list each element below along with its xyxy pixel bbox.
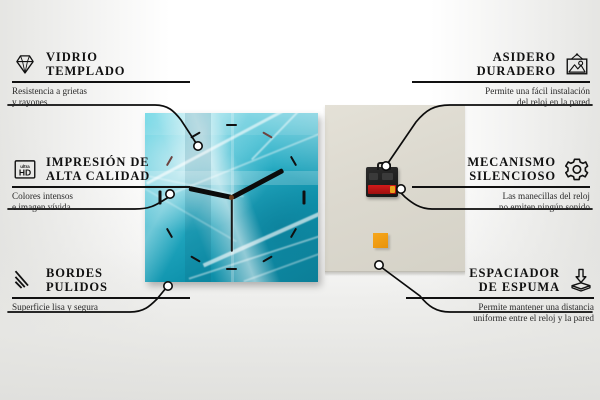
feature-mecanismo-silencioso[interactable]: MECANISMO SILENCIOSO Las manecillas del … [400,155,590,213]
feature-rule [12,297,190,299]
feature-rule [12,186,190,188]
feature-header: BORDES PULIDOS [12,266,202,294]
gear-icon [564,156,590,182]
clock-hand-cap [229,195,234,200]
feature-subtitle: Resistencia a grietas y rayones [12,86,202,108]
svg-text:HD: HD [19,168,31,178]
feature-asidero-duradero[interactable]: ASIDERO DURADERO Permite una fácil insta… [400,50,590,108]
diamond-icon [12,51,38,77]
foam-spacer [373,233,388,248]
clock-second-hand [231,197,233,251]
feature-subtitle: Colores intensos e imagen vívida [12,191,202,213]
feature-header: ultra HD IMPRESIÓN DE ALTA CALIDAD [12,155,202,183]
clock-mechanism [366,167,398,197]
feature-impresion-alta-calidad[interactable]: ultra HD IMPRESIÓN DE ALTA CALIDAD Color… [12,155,202,213]
feature-subtitle: Superficie lisa y segura [12,302,202,313]
feature-header: ESPACIADOR DE ESPUMA [394,266,594,294]
feature-vidrio-templado[interactable]: VIDRIO TEMPLADO Resistencia a grietas y … [12,50,202,108]
feature-title: IMPRESIÓN DE ALTA CALIDAD [46,155,150,183]
polished-edges-icon [12,267,38,293]
mechanism-panel-right [382,173,393,180]
feature-title: BORDES PULIDOS [46,266,108,294]
feature-rule [412,81,590,83]
picture-hanger-icon [564,51,590,77]
feature-bordes-pulidos[interactable]: BORDES PULIDOS Superficie lisa y segura [12,266,202,313]
feature-subtitle: Permite una fácil instalación del reloj … [400,86,590,108]
clock-tick [226,124,237,126]
feature-header: ASIDERO DURADERO [400,50,590,78]
mechanism-battery [368,185,396,194]
feature-title: MECANISMO SILENCIOSO [467,155,556,183]
feature-title: ESPACIADOR DE ESPUMA [469,266,560,294]
feature-header: MECANISMO SILENCIOSO [400,155,590,183]
feature-subtitle: Permite mantener una distancia uniforme … [394,302,594,324]
ultra-hd-icon: ultra HD [12,156,38,182]
feature-header: VIDRIO TEMPLADO [12,50,202,78]
feature-espaciador-de-espuma[interactable]: ESPACIADOR DE ESPUMA Permite mantener un… [394,266,594,324]
mechanism-panel-left [369,173,378,180]
mechanism-hanger [377,162,391,170]
product-infographic: VIDRIO TEMPLADO Resistencia a grietas y … [0,0,600,400]
clock-tick [302,191,305,205]
clock-tick [226,268,237,270]
feature-title: ASIDERO DURADERO [477,50,556,78]
feature-rule [412,186,590,188]
feature-rule [406,297,594,299]
spacer-arrow-icon [568,267,594,293]
feature-rule [12,81,190,83]
feature-subtitle: Las manecillas del reloj no emiten ningú… [400,191,590,213]
feature-title: VIDRIO TEMPLADO [46,50,125,78]
